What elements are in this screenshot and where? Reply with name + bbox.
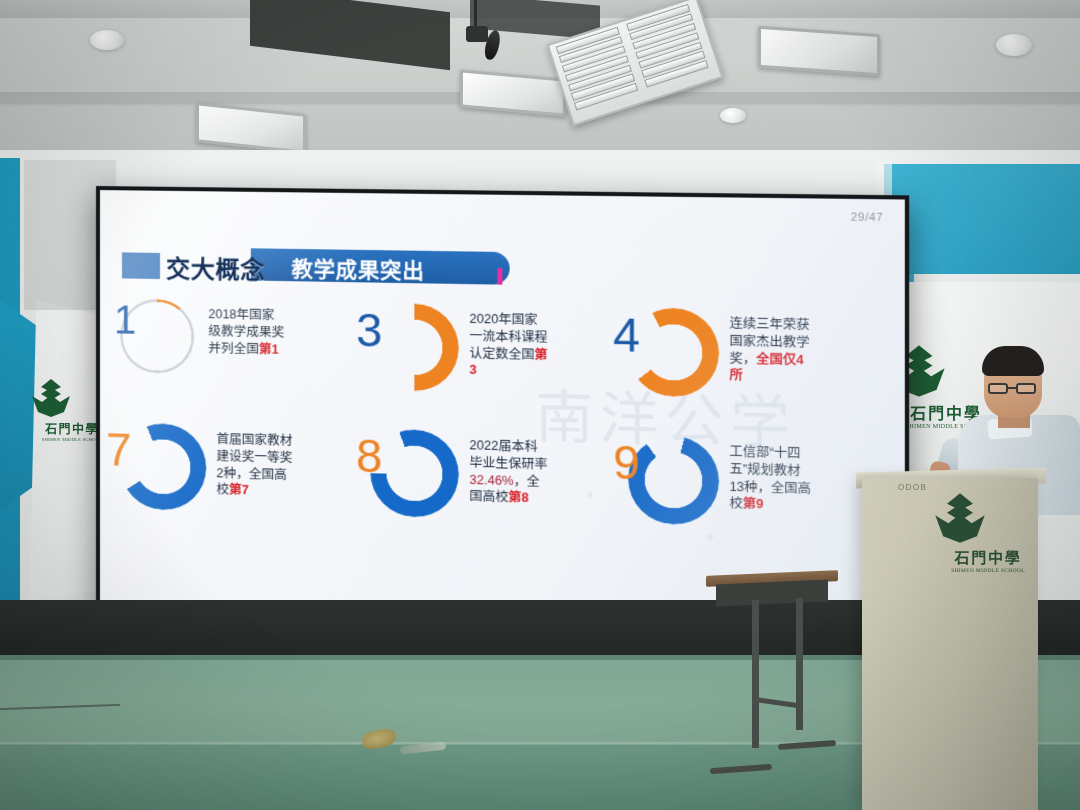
stat-description: 首届国家教材建设奖一等奖2种，全国高校第7 [216,425,292,501]
podium-brand-text: ODOB [898,483,927,492]
stat-text-span: 认定数全国 [470,346,535,362]
ceiling-downlight [90,30,124,50]
stat-text-line: 3 [470,362,548,381]
school-logo-cn: 石門中學 [930,547,1046,568]
stat-text-span: 毕业生保研率 [470,455,548,471]
stat-text-span: 国高校 [470,489,509,504]
stat-text-line: 2020年国家 [470,311,548,330]
desk-leg [752,600,759,748]
desk-leg [796,598,803,730]
stat-ring-holder: 1 [120,298,194,374]
stat-text-span: 2种，全国高 [216,466,286,482]
school-logo-podium: 石門中學 SHIMEN MIDDLE SCHOOL [930,492,1046,574]
stat-text-line: 32.46%，全 [470,471,548,490]
stat-item: 9工信部“十四五”规划教材13种，全国高校第9 [628,435,890,564]
stat-highlight: 全国仅4 [756,351,804,366]
stat-text-line: 2022届本科 [470,437,548,456]
stat-item: 12018年国家级教学成果奖并列全国第1 [120,298,368,422]
stat-text-span: 五”规划教材 [729,462,800,478]
stat-text-line: 校第7 [216,481,292,500]
slide-title-main: 交大概念 [166,249,265,286]
stat-number: 9 [613,434,704,525]
stat-text-line: 连续三年荣获 [729,315,809,334]
stat-text-line: 国高校第8 [470,488,548,507]
stat-text-span: 2022届本科 [470,438,538,454]
stat-text-span: 建设奖一等奖 [216,449,292,465]
stat-item: 82022届本科毕业生保研率32.46%，全国高校第8 [370,429,625,556]
stat-description: 2022届本科毕业生保研率32.46%，全国高校第8 [470,431,548,508]
stat-highlight: 第7 [229,483,249,498]
stat-text-line: 奖，全国仅4 [729,350,809,369]
stat-ring-holder: 7 [120,423,206,512]
stat-item: 32020年国家一流本科课程认定数全国第3 [370,303,625,429]
stat-text-span: 2020年国家 [470,312,538,328]
stat-ring-holder: 4 [628,307,719,397]
stat-ring-holder: 9 [628,435,719,526]
stat-text-span: 工信部“十四 [729,444,800,460]
stat-highlight: 所 [729,368,742,383]
stat-highlight: 第1 [259,342,279,357]
stat-text-line: 建设奖一等奖 [216,448,292,467]
slide-title-sub: 教学成果突出 [291,253,424,286]
projector-mount [466,26,488,42]
stat-description: 2020年国家一流本科课程认定数全国第3 [470,305,548,381]
stat-highlight: 3 [470,363,477,377]
ceiling-downlight [720,108,746,123]
stat-text-line: 级教学成果奖 [208,323,284,341]
school-emblem-icon [930,492,1046,544]
speaker-glasses-left [988,383,1008,394]
stat-text-span: 奖， [729,351,756,366]
stat-text-span: 2018年国家 [208,307,274,322]
stat-highlight: 第9 [743,497,764,512]
stat-text-span: 首届国家教材 [216,432,292,448]
speaker-hair [982,346,1044,376]
stat-text-span: 校 [216,482,229,496]
stat-item: 7首届国家教材建设奖一等奖2种，全国高校第7 [120,423,368,549]
title-accent-block [122,252,160,279]
stat-description: 工信部“十四五”规划教材13种，全国高校第9 [729,437,811,515]
stats-grid: 12018年国家级教学成果奖并列全国第132020年国家一流本科课程认定数全国第… [120,298,890,563]
stat-text-span: 国家杰出教学 [729,334,809,350]
stat-highlight: 第8 [508,490,528,505]
stat-ring-holder: 3 [370,303,459,392]
stat-description: 连续三年荣获国家杰出教学奖，全国仅4所 [729,309,809,386]
stat-number: 3 [356,303,445,392]
stat-number: 7 [106,422,192,510]
stat-ring-holder: 8 [370,429,459,519]
stat-text-line: 2018年国家 [208,306,284,324]
stat-text-line: 一流本科课程 [470,328,548,347]
ceiling-panel-light [758,26,880,77]
stat-text-span: 并列全国 [208,341,259,356]
stat-text-span: 校 [729,496,742,511]
stat-text-line: 2种，全国高 [216,465,292,484]
school-logo-en: SHIMEN MIDDLE SCHOOL [930,568,1046,574]
slide-title-group: 交大概念 [122,248,265,284]
stat-text-line: 毕业生保研率 [470,454,548,473]
speaker-glasses-bridge [1008,387,1016,389]
stat-text-span: 一流本科课程 [470,329,548,345]
stat-highlight: 32.46% [470,472,514,487]
slide-cursor-caret [497,268,502,284]
ceiling-downlight [996,34,1032,56]
stat-text-line: 13种，全国高 [729,478,811,498]
stat-text-line: 并列全国第1 [208,340,284,358]
lecture-hall-photo: 石門中學 SHIMEN MIDDLE SCHOOL 石門中學 SHIMEN MI… [0,0,1080,810]
stat-text-span: 级教学成果奖 [208,324,284,340]
stat-text-line: 认定数全国第 [470,345,548,364]
stat-text-line: 工信部“十四 [729,443,811,462]
stat-highlight: 第 [535,347,548,362]
stat-text-span: 连续三年荣获 [729,316,809,332]
stat-text-line: 校第9 [729,495,811,515]
stat-item: 4连续三年荣获国家杰出教学奖，全国仅4所 [628,307,890,434]
slide-page-indicator: 29/47 [851,211,883,224]
stat-text-line: 首届国家教材 [216,431,292,450]
stat-description: 2018年国家级教学成果奖并列全国第1 [208,300,284,358]
speaker-glasses-right [1016,383,1036,394]
stat-text-line: 五”规划教材 [729,461,811,480]
stat-number: 1 [114,298,188,374]
stat-text-span: 13种，全国高 [729,479,811,496]
stat-number: 8 [356,428,445,518]
wall-accent-teal-right-top [884,164,1080,274]
stat-number: 4 [613,307,704,397]
stat-text-span: ，全 [514,473,540,488]
stat-text-line: 国家杰出教学 [729,333,809,352]
stat-text-line: 所 [729,367,809,386]
